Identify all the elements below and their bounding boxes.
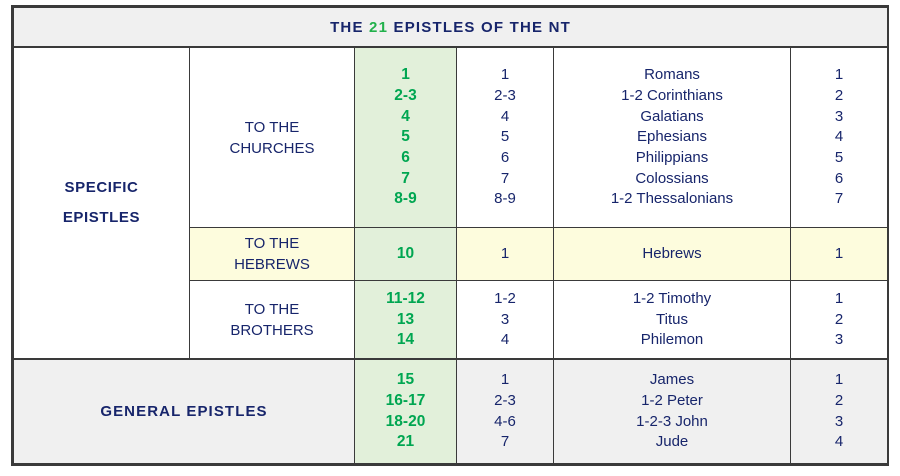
- title-before: THE: [330, 19, 364, 36]
- table-title-row: THE 21 EPISTLES OF THE NT: [14, 8, 888, 48]
- cell-line: 1-2: [457, 289, 553, 310]
- index-cell-hebrews: 1: [791, 228, 888, 281]
- sequence-cell-churches: 12-345678-9: [355, 47, 457, 228]
- cell-line: 6: [355, 148, 456, 169]
- cell-line: 1-2 Timothy: [554, 289, 790, 310]
- cell-line: Jude: [554, 432, 790, 453]
- cell-line: Colossians: [554, 169, 790, 190]
- cell-line: 1-2-3 John: [554, 412, 790, 433]
- cell-line: 5: [457, 127, 553, 148]
- index-cell-churches: 1234567: [791, 47, 888, 228]
- index-cell-brothers: 123: [791, 281, 888, 360]
- cell-line: 1: [791, 244, 887, 265]
- cell-line: 8-9: [457, 189, 553, 210]
- cell-line: 10: [355, 244, 456, 265]
- cell-line: 5: [791, 148, 887, 169]
- books-cell-hebrews: Hebrews: [554, 228, 791, 281]
- subgroup-label-churches: TO THE CHURCHES: [190, 47, 355, 228]
- cell-line: 6: [457, 148, 553, 169]
- sequence-cell-hebrews: 10: [355, 228, 457, 281]
- cell-line: Galatians: [554, 107, 790, 128]
- page-root: THE 21 EPISTLES OF THE NT SPECIFIC EPIST…: [0, 0, 900, 476]
- cell-line: 2: [791, 86, 887, 107]
- epistles-chart-frame: THE 21 EPISTLES OF THE NT SPECIFIC EPIST…: [11, 5, 889, 466]
- cell-line: 7: [457, 169, 553, 190]
- group-label-specific-epistles: SPECIFIC EPISTLES: [14, 47, 190, 359]
- cell-line: 8-9: [355, 189, 456, 210]
- sequence-cell-general: 1516-1718-2021: [355, 359, 457, 463]
- order-cell-churches: 12-345678-9: [457, 47, 554, 228]
- cell-line: 21: [355, 432, 456, 453]
- cell-line: 1: [355, 65, 456, 86]
- cell-line: 1: [791, 289, 887, 310]
- cell-line: Romans: [554, 65, 790, 86]
- cell-line: 14: [355, 330, 456, 351]
- cell-line: 4-6: [457, 412, 553, 433]
- cell-line: 2-3: [457, 391, 553, 412]
- subgroup-churches-line2: CHURCHES: [229, 140, 314, 157]
- cell-line: 5: [355, 127, 456, 148]
- cell-line: 1: [457, 65, 553, 86]
- cell-line: 3: [791, 412, 887, 433]
- cell-line: 7: [457, 432, 553, 453]
- cell-line: 1: [457, 244, 553, 265]
- table-row-general-epistles: GENERAL EPISTLES 1516-1718-2021 12-34-67…: [14, 359, 888, 463]
- cell-line: 1-2 Peter: [554, 391, 790, 412]
- cell-line: 1: [791, 370, 887, 391]
- cell-line: Philippians: [554, 148, 790, 169]
- cell-line: 6: [791, 169, 887, 190]
- table-row-churches: SPECIFIC EPISTLES TO THE CHURCHES 12-345…: [14, 47, 888, 228]
- cell-line: 1-2 Thessalonians: [554, 189, 790, 210]
- subgroup-label-brothers: TO THE BROTHERS: [190, 281, 355, 360]
- title-after: EPISTLES OF THE NT: [394, 19, 571, 36]
- subgroup-brothers-line1: TO THE: [245, 301, 299, 318]
- index-cell-general: 1234: [791, 359, 888, 463]
- cell-line: 13: [355, 310, 456, 331]
- sequence-cell-brothers: 11-121314: [355, 281, 457, 360]
- cell-line: 2: [791, 310, 887, 331]
- cell-line: 3: [791, 107, 887, 128]
- cell-line: 11-12: [355, 289, 456, 310]
- cell-line: 4: [791, 127, 887, 148]
- cell-line: Philemon: [554, 330, 790, 351]
- cell-line: 1: [457, 370, 553, 391]
- page-title: THE 21 EPISTLES OF THE NT: [14, 8, 888, 48]
- cell-line: 2: [791, 391, 887, 412]
- books-cell-churches: Romans1-2 CorinthiansGalatiansEphesiansP…: [554, 47, 791, 228]
- subgroup-brothers-line2: BROTHERS: [230, 322, 313, 339]
- subgroup-hebrews-line1: TO THE: [245, 235, 299, 252]
- cell-line: Ephesians: [554, 127, 790, 148]
- group-label-line2: EPISTLES: [63, 209, 140, 226]
- cell-line: 2-3: [355, 86, 456, 107]
- books-cell-brothers: 1-2 TimothyTitusPhilemon: [554, 281, 791, 360]
- cell-line: 3: [457, 310, 553, 331]
- books-cell-general: James1-2 Peter1-2-3 JohnJude: [554, 359, 791, 463]
- subgroup-label-hebrews: TO THE HEBREWS: [190, 228, 355, 281]
- order-cell-general: 12-34-67: [457, 359, 554, 463]
- cell-line: 3: [791, 330, 887, 351]
- subgroup-churches-line1: TO THE: [245, 119, 299, 136]
- order-cell-hebrews: 1: [457, 228, 554, 281]
- cell-line: 18-20: [355, 412, 456, 433]
- group-label-general-epistles: GENERAL EPISTLES: [14, 359, 355, 463]
- cell-line: 16-17: [355, 391, 456, 412]
- cell-line: Titus: [554, 310, 790, 331]
- cell-line: 15: [355, 370, 456, 391]
- cell-line: 2-3: [457, 86, 553, 107]
- cell-line: 1: [791, 65, 887, 86]
- cell-line: 7: [355, 169, 456, 190]
- cell-line: 1-2 Corinthians: [554, 86, 790, 107]
- title-count: 21: [369, 19, 388, 36]
- cell-line: 4: [457, 107, 553, 128]
- cell-line: 4: [355, 107, 456, 128]
- cell-line: Hebrews: [554, 244, 790, 265]
- cell-line: 4: [457, 330, 553, 351]
- cell-line: 7: [791, 189, 887, 210]
- order-cell-brothers: 1-234: [457, 281, 554, 360]
- epistles-table: THE 21 EPISTLES OF THE NT SPECIFIC EPIST…: [13, 7, 888, 464]
- subgroup-hebrews-line2: HEBREWS: [234, 256, 310, 273]
- cell-line: James: [554, 370, 790, 391]
- cell-line: 4: [791, 432, 887, 453]
- group-label-line1: SPECIFIC: [65, 179, 139, 196]
